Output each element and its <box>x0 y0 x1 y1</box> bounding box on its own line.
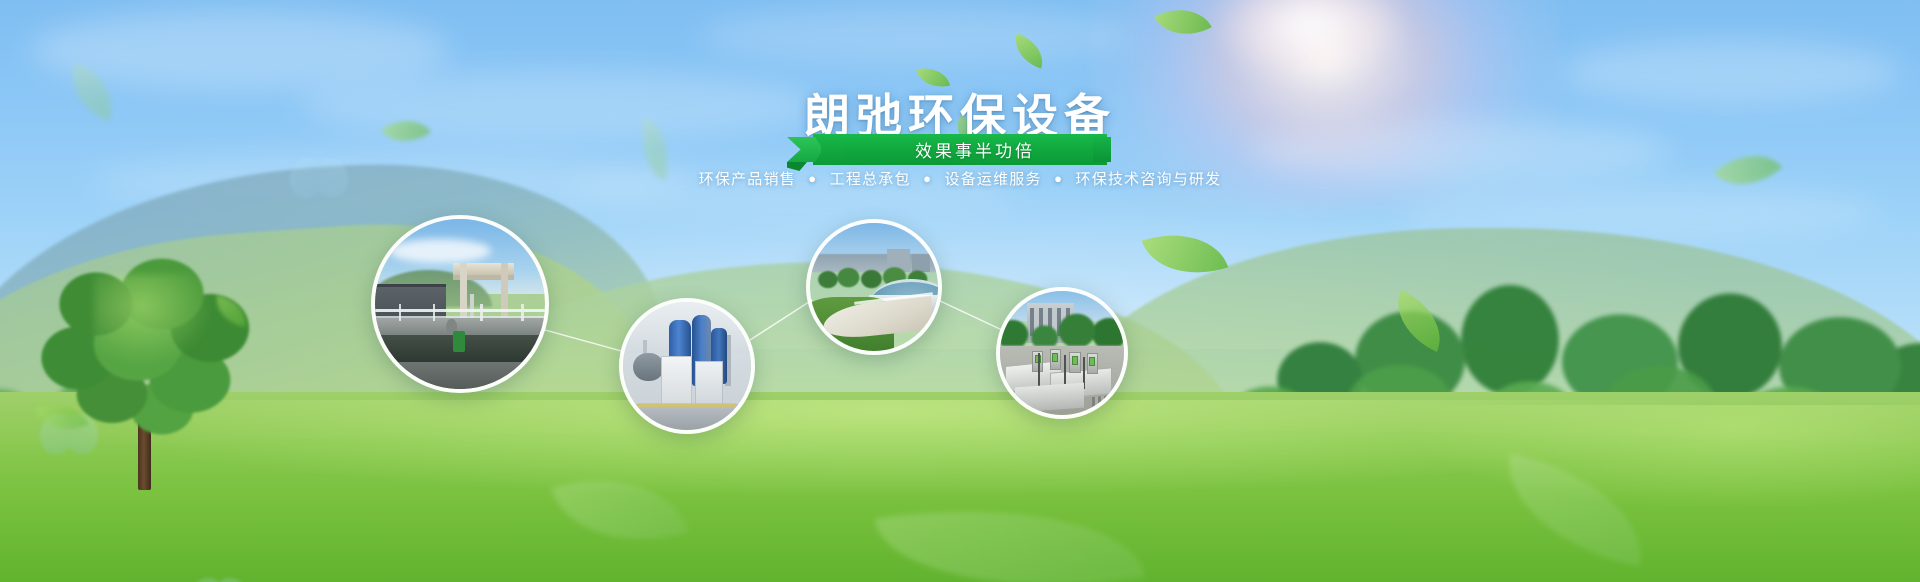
photo-blower-room-image <box>623 302 751 430</box>
ribbon-body: 效果事半功倍 <box>813 134 1107 165</box>
ribbon-tail-left <box>787 137 821 162</box>
service-item-3: 环保技术咨询与研发 <box>1076 171 1222 188</box>
tagline-ribbon: 效果事半功倍 <box>0 134 1920 165</box>
photo-blower-room[interactable] <box>619 298 755 434</box>
photo-clarifier-park[interactable] <box>806 219 942 355</box>
photo-control-units-image <box>1000 291 1124 415</box>
hero-banner: 朗弛环保设备 效果事半功倍 环保产品销售 ● 工程总承包 ● 设备运维服务 ● … <box>0 0 1920 582</box>
cloud-icon <box>700 6 1130 66</box>
ribbon-tail-right <box>1093 137 1111 162</box>
bullet-icon: ● <box>1054 171 1063 186</box>
service-list: 环保产品销售 ● 工程总承包 ● 设备运维服务 ● 环保技术咨询与研发 <box>0 168 1920 189</box>
sun-core <box>1215 0 1405 80</box>
bullet-icon: ● <box>808 171 817 186</box>
photo-clarifier-park-image <box>810 223 938 351</box>
photo-aeration-basin[interactable] <box>371 215 549 393</box>
bullet-icon: ● <box>923 171 932 186</box>
tagline-text: 效果事半功倍 <box>885 137 1035 162</box>
tree-highlight <box>94 274 214 366</box>
photo-aeration-basin-image <box>375 219 545 389</box>
photo-control-units[interactable] <box>996 287 1128 419</box>
service-item-1: 工程总承包 <box>830 171 911 188</box>
service-item-0: 环保产品销售 <box>699 171 796 188</box>
grass-highlight-right <box>1300 405 1920 515</box>
service-item-2: 设备运维服务 <box>945 171 1042 188</box>
